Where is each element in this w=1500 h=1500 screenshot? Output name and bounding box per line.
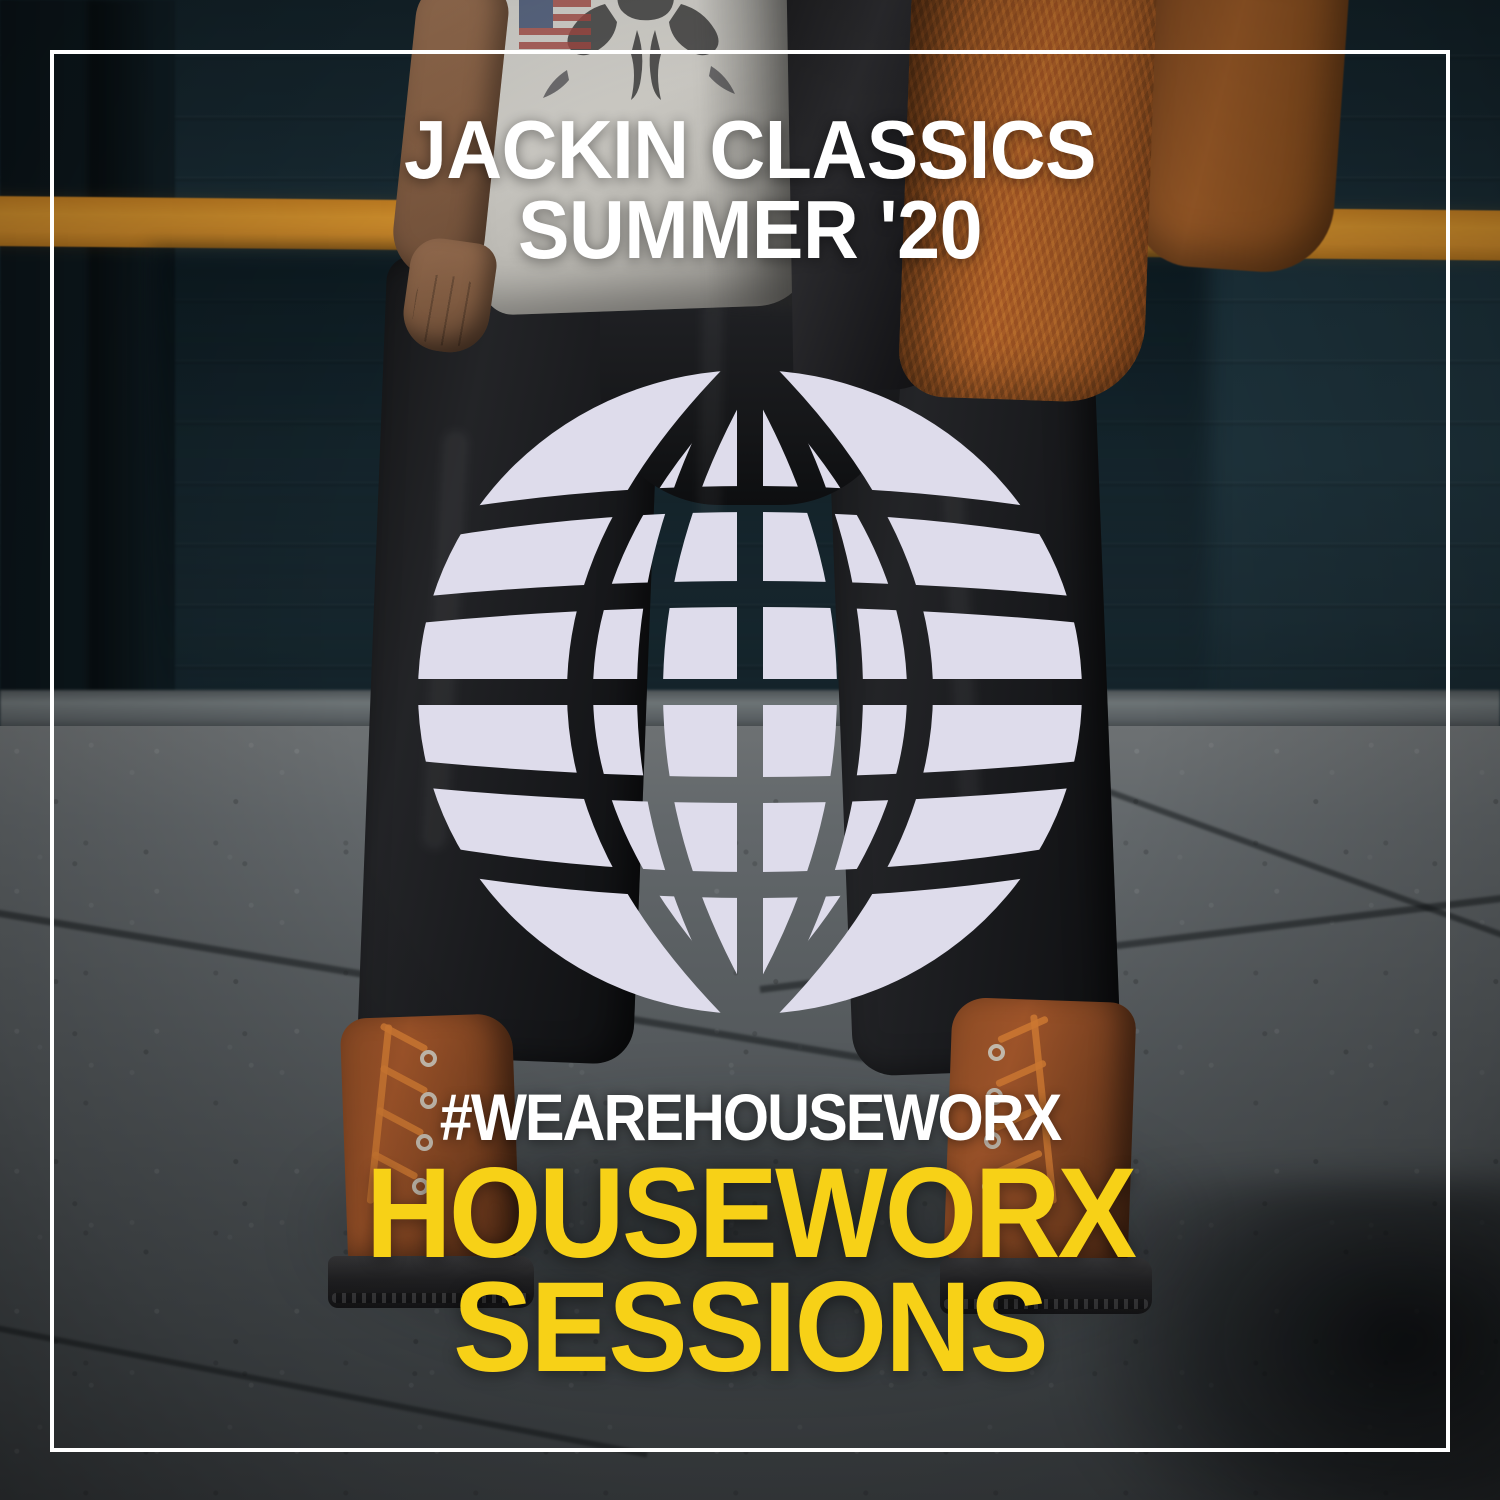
title-block: JACKIN CLASSICS SUMMER '20 bbox=[0, 110, 1500, 269]
brand-subtitle-label: SESSIONS bbox=[53, 1268, 1448, 1388]
houseworx-globe-logo bbox=[400, 352, 1100, 1032]
hashtag-label: #WEAREHOUSEWORX bbox=[75, 1086, 1425, 1148]
page-title-line1: JACKIN CLASSICS bbox=[53, 110, 1448, 190]
page-title-line2: SUMMER '20 bbox=[53, 190, 1448, 270]
album-cover: JACKIN CLASSICS SUMMER '20 #WEAREHOUSEWO… bbox=[0, 0, 1500, 1500]
boot-eyelet bbox=[420, 1050, 437, 1067]
brand-block: #WEAREHOUSEWORX HOUSEWORX SESSIONS bbox=[0, 1086, 1500, 1389]
boot-eyelet bbox=[988, 1044, 1005, 1061]
